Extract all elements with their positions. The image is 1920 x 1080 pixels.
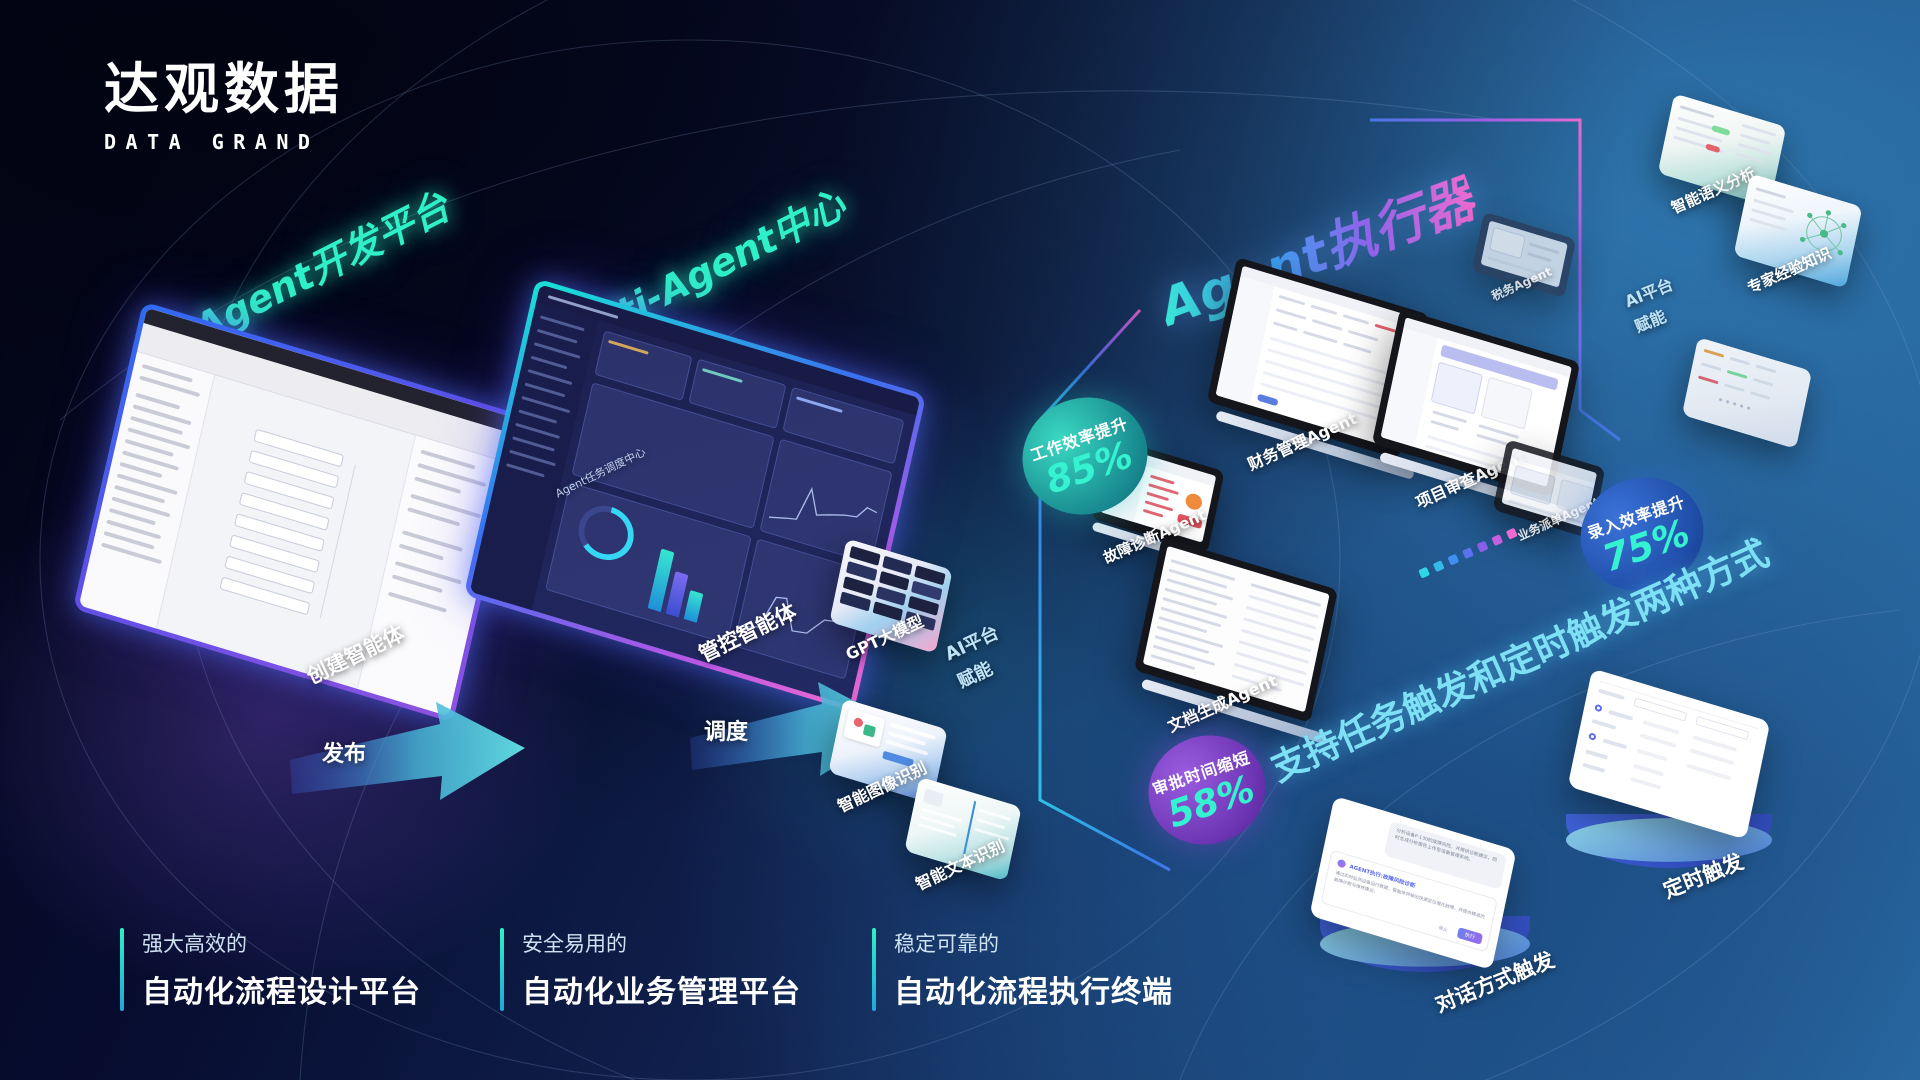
bottom-caption-2: 安全易用的 自动化业务管理平台 — [500, 928, 801, 1011]
caption-main-3: 自动化流程执行终端 — [894, 967, 1173, 1011]
caption-bar-3 — [872, 928, 876, 1011]
radio-option-2[interactable] — [1588, 732, 1596, 741]
bottom-caption-3: 稳定可靠的 自动化流程执行终端 — [872, 928, 1173, 1011]
caption-sub-3: 稳定可靠的 — [894, 928, 1173, 958]
brand-name-en: DATA GRAND — [104, 130, 344, 154]
brand-logo: 达观数据 DATA GRAND — [104, 62, 344, 154]
arrow-publish: 发布 — [290, 690, 550, 815]
monitor-1-screen — [79, 308, 517, 717]
caption-bar-1 — [120, 928, 124, 1011]
caption-main-2: 自动化业务管理平台 — [522, 967, 801, 1011]
agent-avatar-icon — [1337, 859, 1347, 869]
caption-sub-2: 安全易用的 — [522, 928, 801, 958]
infographic-canvas: 达观数据 DATA GRAND Agent开发平台 Multi-Agent中心 … — [0, 0, 1920, 1080]
caption-main-1: 自动化流程设计平台 — [142, 967, 421, 1011]
caption-sub-1: 强大高效的 — [142, 928, 421, 958]
monitor-1-bezel — [73, 301, 523, 722]
brand-name-cn: 达观数据 — [104, 62, 344, 117]
radio-option-1[interactable] — [1594, 704, 1602, 713]
arrow-publish-label: 发布 — [322, 736, 366, 768]
arrow-dispatch-label: 调度 — [704, 714, 748, 746]
chat-stop-label[interactable]: 停止 — [1438, 925, 1448, 933]
caption-bar-2 — [500, 928, 504, 1011]
monitor-agent-dev-platform — [108, 352, 488, 672]
chat-execute-button[interactable]: 执行 — [1457, 927, 1483, 945]
bottom-caption-1: 强大高效的 自动化流程设计平台 — [120, 928, 421, 1011]
